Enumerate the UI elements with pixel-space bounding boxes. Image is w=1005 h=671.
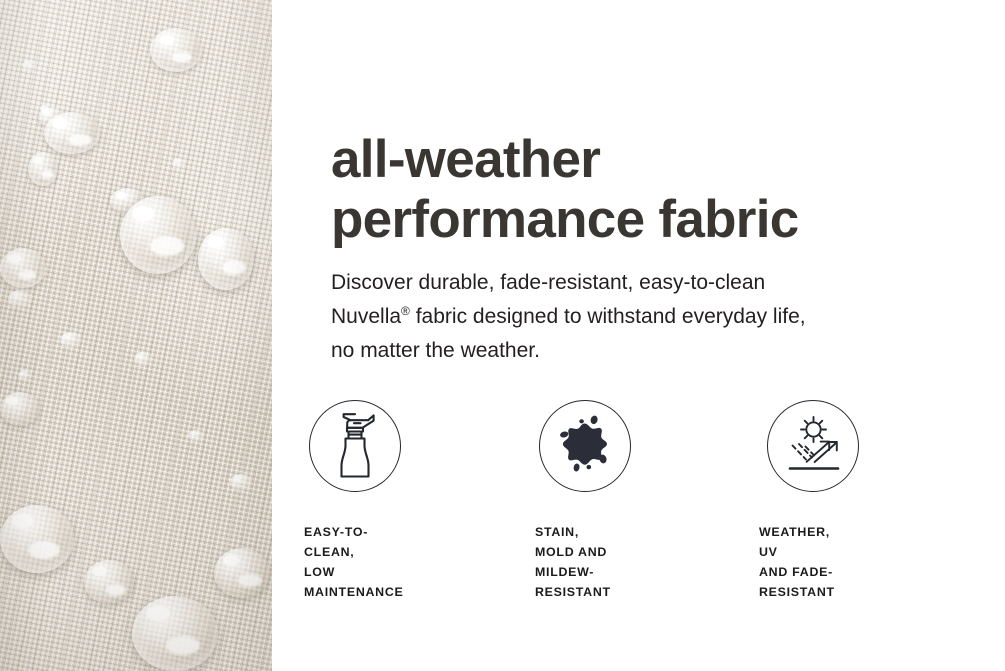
stain-splat-icon	[539, 400, 631, 492]
promo-content: all-weather performance fabric Discover …	[272, 0, 1005, 671]
feature-caption: EASY-TO-CLEAN, LOW MAINTENANCE	[304, 522, 403, 602]
registered-trademark-icon: ®	[401, 304, 410, 318]
feature-caption: WEATHER, UV AND FADE-RESISTANT	[759, 522, 835, 602]
page-title: all-weather performance fabric	[331, 130, 991, 250]
promo-description: Discover durable, fade-resistant, easy-t…	[331, 266, 971, 368]
promo-banner: all-weather performance fabric Discover …	[0, 0, 1005, 671]
sun-uv-reflect-icon	[767, 400, 859, 492]
fabric-vignette	[0, 0, 272, 671]
spray-bottle-icon	[309, 400, 401, 492]
feature-caption: STAIN, MOLD AND MILDEW-RESISTANT	[535, 522, 611, 602]
feature-list: EASY-TO-CLEAN, LOW MAINTENANCE	[272, 400, 1005, 580]
feature-icon-wrap	[309, 400, 401, 492]
feature-icon-wrap	[767, 400, 859, 492]
feature-icon-wrap	[539, 400, 631, 492]
fabric-water-beading-photo	[0, 0, 272, 671]
